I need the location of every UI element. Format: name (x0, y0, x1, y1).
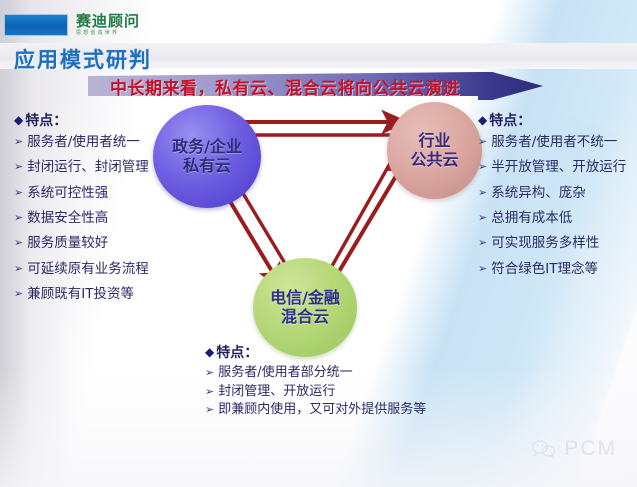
watermark: PCM (531, 437, 617, 461)
arrow-bullet-icon: ➢ (478, 209, 487, 226)
arrow-bullet-icon: ➢ (205, 383, 214, 400)
arrow-bullet-icon: ➢ (14, 158, 23, 175)
list-item-label: 系统异构、庞杂 (491, 184, 630, 202)
diamond-bullet-icon: ◆ (478, 113, 487, 127)
blue-block-mark-icon (4, 14, 68, 36)
list-item-label: 服务质量较好 (27, 234, 174, 252)
node-private-cloud-line1: 政务/企业 (172, 138, 242, 157)
list-item-label: 服务者/使用者不统一 (491, 133, 630, 151)
node-hybrid-cloud-line1: 电信/金融 (270, 289, 340, 308)
diamond-bullet-icon: ◆ (205, 345, 214, 359)
features-panel-hybrid-heading: ◆ 特点： (205, 342, 485, 362)
list-item: ➢ 可延续原有业务流程 (14, 260, 174, 278)
brand-logo-text: 赛迪顾问 思想创造世界 (76, 14, 140, 36)
list-item-label: 服务者/使用者统一 (27, 133, 174, 151)
brand-tagline: 思想创造世界 (76, 31, 140, 36)
diamond-bullet-icon: ◆ (14, 113, 23, 127)
arrow-bullet-icon: ➢ (14, 260, 23, 277)
features-panel-public-list: ➢ 服务者/使用者不统一 ➢ 半开放管理、开放运行 ➢ 系统异构、庞杂 ➢ 总拥… (478, 133, 630, 278)
features-panel-private-heading-text: 特点： (25, 110, 67, 130)
list-item-label: 数据安全性高 (27, 209, 174, 227)
list-item: ➢ 符合绿色IT理念等 (478, 260, 630, 278)
node-public-cloud[interactable]: 行业 公共云 (387, 102, 482, 199)
features-panel-hybrid: ◆ 特点： ➢ 服务者/使用者部分统一 ➢ 封闭管理、开放运行 ➢ 即兼顾内使用… (205, 342, 485, 420)
node-private-cloud-line2: 私有云 (183, 157, 231, 176)
node-hybrid-cloud-line2: 混合云 (281, 308, 329, 327)
list-item: ➢ 服务者/使用者部分统一 (205, 364, 485, 382)
features-panel-private: ◆ 特点： ➢ 服务者/使用者统一 ➢ 封闭运行、封闭管理 ➢ 系统可控性强 ➢… (14, 110, 174, 311)
list-item-label: 总拥有成本低 (491, 209, 630, 227)
page-title: 应用模式研判 (14, 44, 152, 74)
arrow-bullet-icon: ➢ (478, 158, 487, 175)
arrow-bullet-icon: ➢ (14, 234, 23, 251)
list-item: ➢ 数据安全性高 (14, 209, 174, 227)
list-item: ➢ 服务质量较好 (14, 234, 174, 252)
arrow-bullet-icon: ➢ (478, 184, 487, 201)
list-item: ➢ 封闭管理、开放运行 (205, 383, 485, 401)
list-item: ➢ 系统可控性强 (14, 184, 174, 202)
slide-canvas: 赛迪顾问 思想创造世界 应用模式研判 中长期来看，私有云、混合云将向公共云演进 (0, 0, 637, 487)
brand-logo: 赛迪顾问 思想创造世界 (4, 14, 140, 36)
node-public-cloud-line2: 公共云 (410, 151, 458, 170)
brand-name: 赛迪顾问 (76, 14, 140, 29)
list-item: ➢ 可实现服务多样性 (478, 234, 630, 252)
watermark-label: PCM (564, 437, 617, 461)
list-item-label: 半开放管理、开放运行 (491, 158, 630, 176)
list-item: ➢ 系统异构、庞杂 (478, 184, 630, 202)
list-item: ➢ 半开放管理、开放运行 (478, 158, 630, 176)
features-panel-hybrid-heading-text: 特点： (216, 342, 258, 362)
list-item-label: 可实现服务多样性 (491, 234, 630, 252)
list-item: ➢ 总拥有成本低 (478, 209, 630, 227)
wechat-icon (531, 439, 557, 459)
list-item: ➢ 兼顾既有IT投资等 (14, 285, 174, 303)
list-item-label: 系统可控性强 (27, 184, 174, 202)
features-panel-public-heading: ◆ 特点： (478, 110, 630, 130)
list-item-label: 封闭运行、封闭管理 (27, 158, 174, 176)
list-item: ➢ 封闭运行、封闭管理 (14, 158, 174, 176)
list-item-label: 符合绿色IT理念等 (491, 260, 630, 278)
arrow-bullet-icon: ➢ (14, 184, 23, 201)
features-panel-private-heading: ◆ 特点： (14, 110, 174, 130)
list-item: ➢ 服务者/使用者不统一 (478, 133, 630, 151)
arrow-bullet-icon: ➢ (478, 260, 487, 277)
list-item: ➢ 即兼顾内使用，又可对外提供服务等 (205, 401, 485, 419)
arrow-bullet-icon: ➢ (14, 285, 23, 302)
arrow-bullet-icon: ➢ (14, 209, 23, 226)
features-panel-hybrid-list: ➢ 服务者/使用者部分统一 ➢ 封闭管理、开放运行 ➢ 即兼顾内使用，又可对外提… (205, 364, 485, 419)
list-item-label: 服务者/使用者部分统一 (218, 364, 485, 382)
list-item-label: 封闭管理、开放运行 (218, 383, 485, 401)
arrow-bullet-icon: ➢ (14, 133, 23, 150)
node-public-cloud-line1: 行业 (418, 132, 450, 151)
features-panel-public-heading-text: 特点： (489, 110, 531, 130)
features-panel-private-list: ➢ 服务者/使用者统一 ➢ 封闭运行、封闭管理 ➢ 系统可控性强 ➢ 数据安全性… (14, 133, 174, 304)
arrow-bullet-icon: ➢ (478, 133, 487, 150)
features-panel-public: ◆ 特点： ➢ 服务者/使用者不统一 ➢ 半开放管理、开放运行 ➢ 系统异构、庞… (478, 110, 630, 285)
list-item: ➢ 服务者/使用者统一 (14, 133, 174, 151)
list-item-label: 即兼顾内使用，又可对外提供服务等 (218, 401, 485, 419)
arrow-bullet-icon: ➢ (478, 234, 487, 251)
list-item-label: 兼顾既有IT投资等 (27, 285, 174, 303)
list-item-label: 可延续原有业务流程 (27, 260, 174, 278)
headline-text: 中长期来看，私有云、混合云将向公共云演进 (110, 74, 460, 99)
arrow-bullet-icon: ➢ (205, 401, 214, 418)
arrow-bullet-icon: ➢ (205, 364, 214, 381)
